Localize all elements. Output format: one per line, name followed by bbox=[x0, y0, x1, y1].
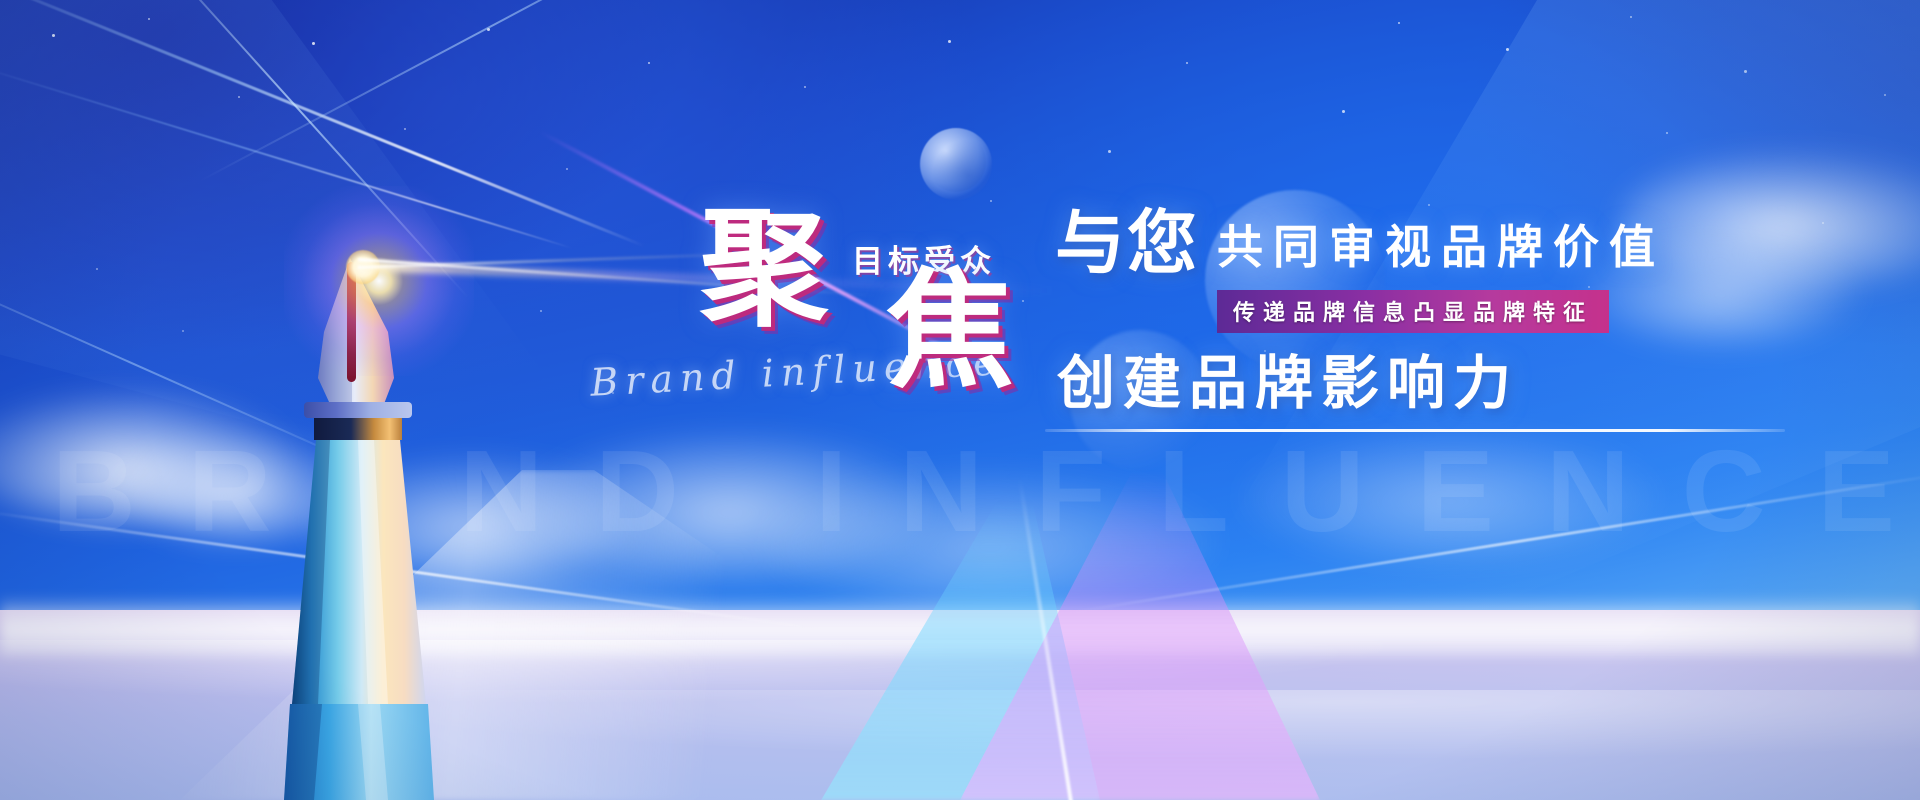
headline-row-1: 与您 共同审视品牌价值 bbox=[1055, 208, 1815, 278]
status-badge: 传递品牌信息凸显品牌特征 bbox=[1217, 290, 1609, 333]
headline-line-2: 创建品牌影响力 bbox=[1057, 355, 1815, 413]
lighthouse-illustration bbox=[262, 236, 452, 800]
copy-block: 聚 目标受众 Brand influence 焦 与您 共同审视品牌价值 传递品… bbox=[700, 190, 1830, 610]
tower-collar bbox=[304, 402, 412, 418]
light-beam-upper-left bbox=[0, 0, 645, 248]
divider-rule bbox=[1045, 429, 1785, 432]
cloud-left-1 bbox=[0, 392, 290, 522]
headline-line-1: 共同审视品牌价值 bbox=[1217, 224, 1665, 278]
light-beam-cross bbox=[200, 0, 766, 182]
headline-char-jiao: 焦 bbox=[886, 268, 1014, 396]
with-you-text: 与您 bbox=[1055, 208, 1199, 278]
brand-banner: BRAND INFLUENCE bbox=[0, 0, 1920, 800]
light-beam-secondary bbox=[0, 60, 572, 249]
pen-nib-lighthouse bbox=[262, 236, 452, 800]
tower-band bbox=[314, 418, 402, 440]
headline-char-ju: 聚 bbox=[700, 206, 828, 334]
pen-nib-shade bbox=[318, 258, 352, 404]
right-copy-column: 与您 共同审视品牌价值 传递品牌信息凸显品牌特征 创建品牌影响力 bbox=[1055, 208, 1815, 432]
